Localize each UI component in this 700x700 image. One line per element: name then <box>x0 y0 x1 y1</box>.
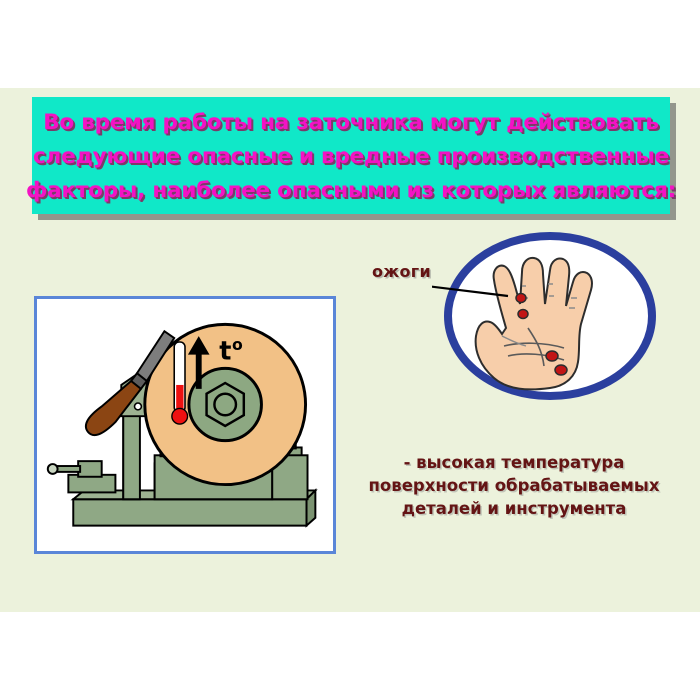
burn-mark <box>516 294 526 303</box>
burns-label: ожоги <box>372 262 431 281</box>
burn-mark <box>518 310 528 319</box>
thermometer-icon <box>172 342 188 424</box>
burn-mark <box>555 365 567 375</box>
slide-canvas: Во время работы на заточника могут дейст… <box>0 88 700 612</box>
caption-line-3: деталей и инструмента <box>358 497 670 520</box>
grinder-machine-illustration: t o <box>37 299 333 551</box>
caption-line-2: поверхности обрабатываемых <box>358 474 670 497</box>
banner-line-1: Во время работы на заточника могут дейст… <box>43 106 659 140</box>
grinder-machine-figure: t o <box>34 296 336 554</box>
burn-mark <box>546 351 558 361</box>
banner-line-3: факторы, наиболее опасными из которых яв… <box>26 174 676 208</box>
banner-line-2: следующие опасные и вредные производстве… <box>33 140 669 174</box>
burned-hand-illustration <box>432 228 662 408</box>
burned-hand-figure <box>432 228 662 408</box>
caption-line-1: - высокая температура <box>358 451 670 474</box>
caption-block: - высокая температура поверхности обраба… <box>358 451 670 520</box>
temperature-symbol-degree: o <box>232 335 243 354</box>
hand-shape <box>476 258 592 390</box>
machine-clamp <box>48 461 116 492</box>
title-banner: Во время работы на заточника могут дейст… <box>32 97 670 214</box>
temperature-symbol-t: t <box>219 336 231 366</box>
